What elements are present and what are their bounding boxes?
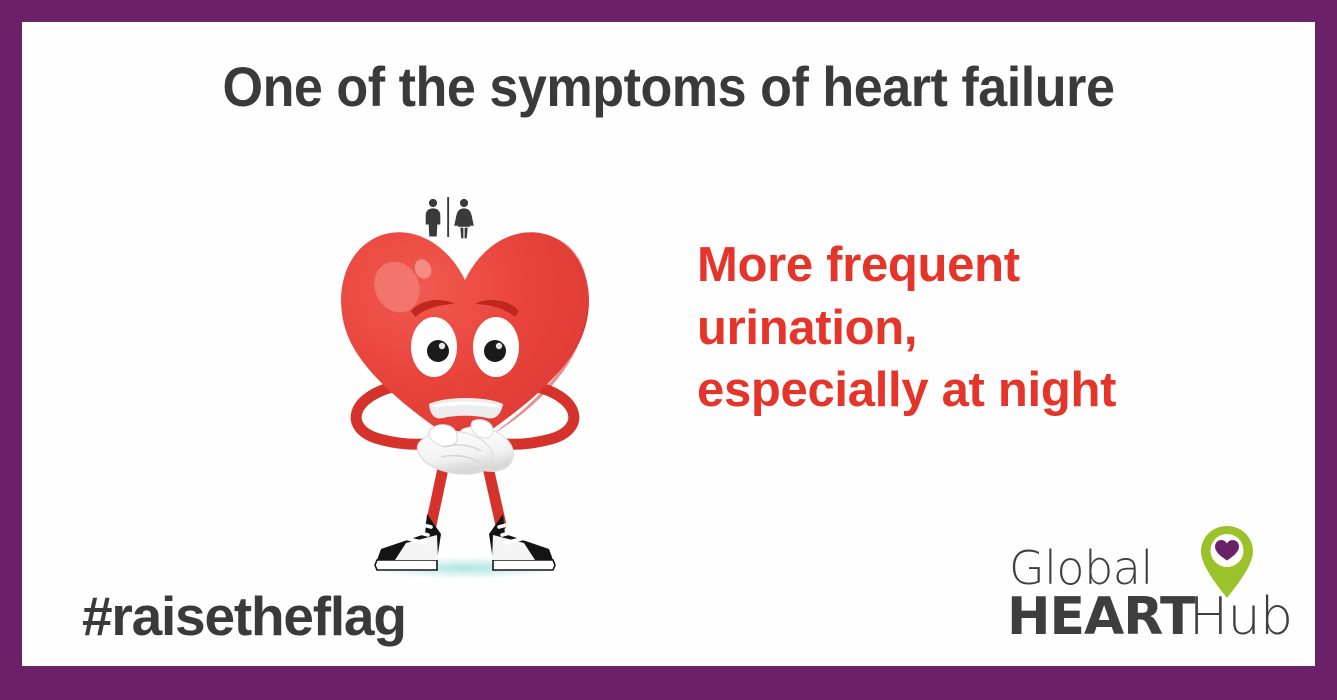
- logo-text-heart: HEART: [1007, 587, 1194, 647]
- left-shoe: [375, 514, 441, 570]
- female-figure-icon: [454, 199, 474, 239]
- poster-canvas: One of the symptoms of heart failure: [0, 0, 1337, 700]
- restroom-sign-icon: [413, 195, 483, 239]
- campaign-hashtag: #raisetheflag: [82, 584, 406, 648]
- map-pin-heart-icon: [1199, 525, 1255, 599]
- right-pupil: [484, 340, 506, 362]
- heart-mascot-illustration: [305, 177, 625, 587]
- clasped-gloved-hands: [417, 420, 513, 474]
- page-title: One of the symptoms of heart failure: [67, 54, 1269, 119]
- restroom-sign: [413, 195, 483, 239]
- male-figure-icon: [426, 199, 441, 237]
- poster-inner-card: One of the symptoms of heart failure: [22, 22, 1315, 666]
- mouth: [429, 398, 503, 418]
- right-shoe: [489, 514, 555, 570]
- global-heart-hub-logo[interactable]: Global HEART Hub: [1007, 525, 1292, 650]
- symptom-description: More frequent urination, especially at n…: [697, 234, 1117, 422]
- left-pupil: [427, 340, 449, 362]
- vertical-divider: [447, 197, 449, 237]
